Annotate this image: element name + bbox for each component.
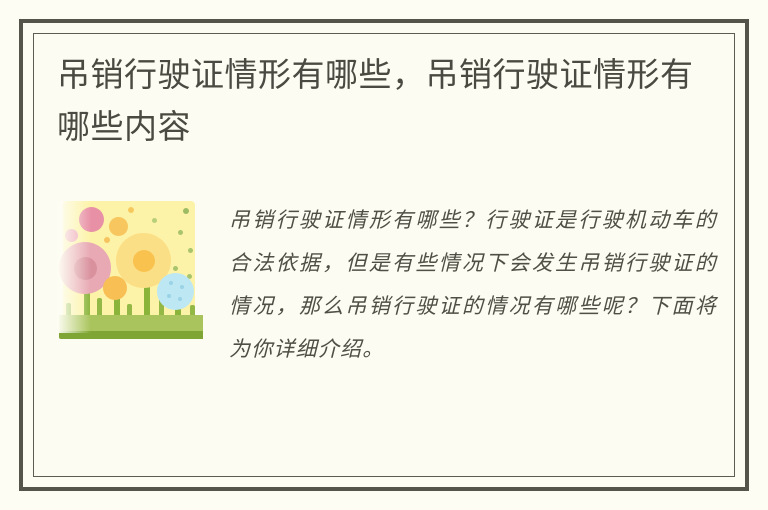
blue-flower xyxy=(157,273,194,310)
dot-green-tiny-c xyxy=(178,230,183,235)
outer-frame-border: 吊销行驶证情形有哪些，吊销行驶证情形有哪些内容 xyxy=(19,19,749,491)
dot-yellow-tiny xyxy=(128,207,134,213)
article-body-text: 吊销行驶证情形有哪些？行驶证是行驶机动车的合法依据，但是有些情况下会发生吊销行驶… xyxy=(229,199,717,371)
blue-flower-dot-1 xyxy=(169,281,173,285)
blue-flower-dot-4 xyxy=(178,297,182,301)
illustration-left-fade xyxy=(57,201,91,333)
dot-orange-tiny xyxy=(104,237,110,243)
yellow-flower-large-inner xyxy=(133,250,155,272)
blue-flower-dot-3 xyxy=(167,294,171,298)
dot-green-tiny-a xyxy=(152,218,157,223)
orange-flower-small xyxy=(103,276,127,300)
article-page: 吊销行驶证情形有哪些，吊销行驶证情形有哪些内容 xyxy=(0,0,768,510)
flowers-meadow-illustration xyxy=(57,201,203,349)
dot-green-tiny-b xyxy=(183,208,189,214)
blue-flower-dot-2 xyxy=(180,285,184,289)
orange-circle-top xyxy=(109,217,128,236)
article-body-row: 吊销行驶证情形有哪些？行驶证是行驶机动车的合法依据，但是有些情况下会发生吊销行驶… xyxy=(51,197,717,371)
page-content: 吊销行驶证情形有哪些，吊销行驶证情形有哪些内容 xyxy=(23,23,745,487)
dot-green-tiny-e xyxy=(173,266,178,271)
dot-green-tiny-d xyxy=(188,248,193,253)
page-title: 吊销行驶证情形有哪些，吊销行驶证情形有哪些内容 xyxy=(51,49,717,153)
